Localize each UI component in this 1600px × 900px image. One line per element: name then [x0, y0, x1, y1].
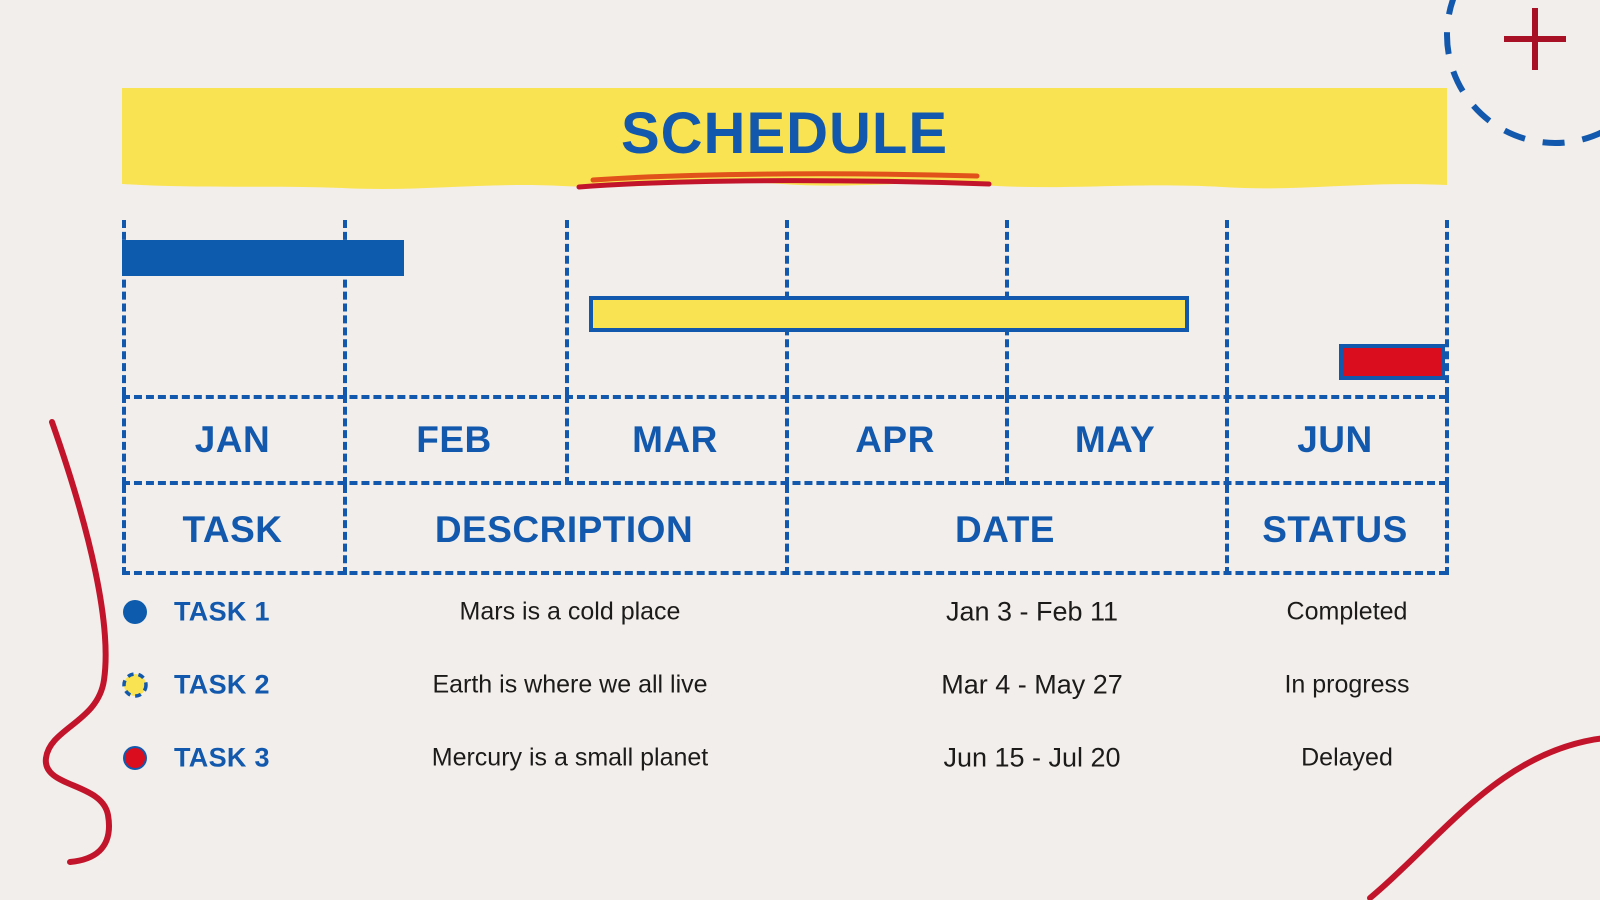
title-banner: SCHEDULE [122, 88, 1447, 196]
gridline-mar-start [565, 220, 569, 395]
table-header-row: TASK DESCRIPTION DATE STATUS [122, 485, 1447, 575]
column-header-description: DESCRIPTION [343, 485, 785, 575]
red-dot-blue-ring-icon [122, 745, 148, 771]
dashed-yellow-dot-icon [122, 672, 148, 698]
month-header-mar: MAR [565, 395, 785, 485]
task-date: Jan 3 - Feb 11 [822, 596, 1242, 627]
month-header-jun: JUN [1225, 395, 1445, 485]
status-badge: Delayed [1242, 743, 1452, 772]
task-label: TASK 3 [174, 742, 270, 773]
gantt-chart-area [122, 220, 1447, 395]
status-badge: Completed [1242, 597, 1452, 626]
gantt-bar-task-2[interactable] [589, 296, 1189, 332]
task-label: TASK 1 [174, 596, 270, 627]
task-description: Mars is a cold place [350, 597, 790, 626]
month-header-jan: JAN [122, 395, 343, 485]
gantt-bar-task-1[interactable] [122, 240, 404, 276]
page-title: SCHEDULE [122, 88, 1447, 178]
column-header-date: DATE [785, 485, 1225, 575]
title-underline-icon [575, 166, 995, 192]
task-list: TASK 1 Mars is a cold place Jan 3 - Feb … [122, 575, 1447, 794]
cols-divider-4 [1445, 485, 1449, 575]
task-label: TASK 2 [174, 669, 270, 700]
months-divider-6 [1445, 395, 1449, 485]
schedule-slide: SCHEDULE JAN FEB MAR APR MAY JUN [0, 0, 1600, 900]
column-header-task: TASK [122, 485, 343, 575]
gridline-jun-start [1225, 220, 1229, 395]
table-row[interactable]: TASK 1 Mars is a cold place Jan 3 - Feb … [122, 575, 1447, 648]
column-header-status: STATUS [1225, 485, 1445, 575]
plus-icon [1498, 2, 1572, 76]
status-badge: In progress [1242, 670, 1452, 699]
gantt-bar-task-3[interactable] [1339, 344, 1445, 380]
table-row[interactable]: TASK 3 Mercury is a small planet Jun 15 … [122, 721, 1447, 794]
month-header-row: JAN FEB MAR APR MAY JUN [122, 395, 1447, 485]
month-header-apr: APR [785, 395, 1005, 485]
task-date: Mar 4 - May 27 [822, 669, 1242, 700]
solid-blue-dot-icon [122, 599, 148, 625]
task-description: Mercury is a small planet [350, 743, 790, 772]
gridline-jun-end [1445, 220, 1449, 395]
dashed-circle-icon [1440, 0, 1600, 150]
month-header-feb: FEB [343, 395, 565, 485]
task-date: Jun 15 - Jul 20 [822, 742, 1242, 773]
table-row[interactable]: TASK 2 Earth is where we all live Mar 4 … [122, 648, 1447, 721]
task-description: Earth is where we all live [350, 670, 790, 699]
month-header-may: MAY [1005, 395, 1225, 485]
